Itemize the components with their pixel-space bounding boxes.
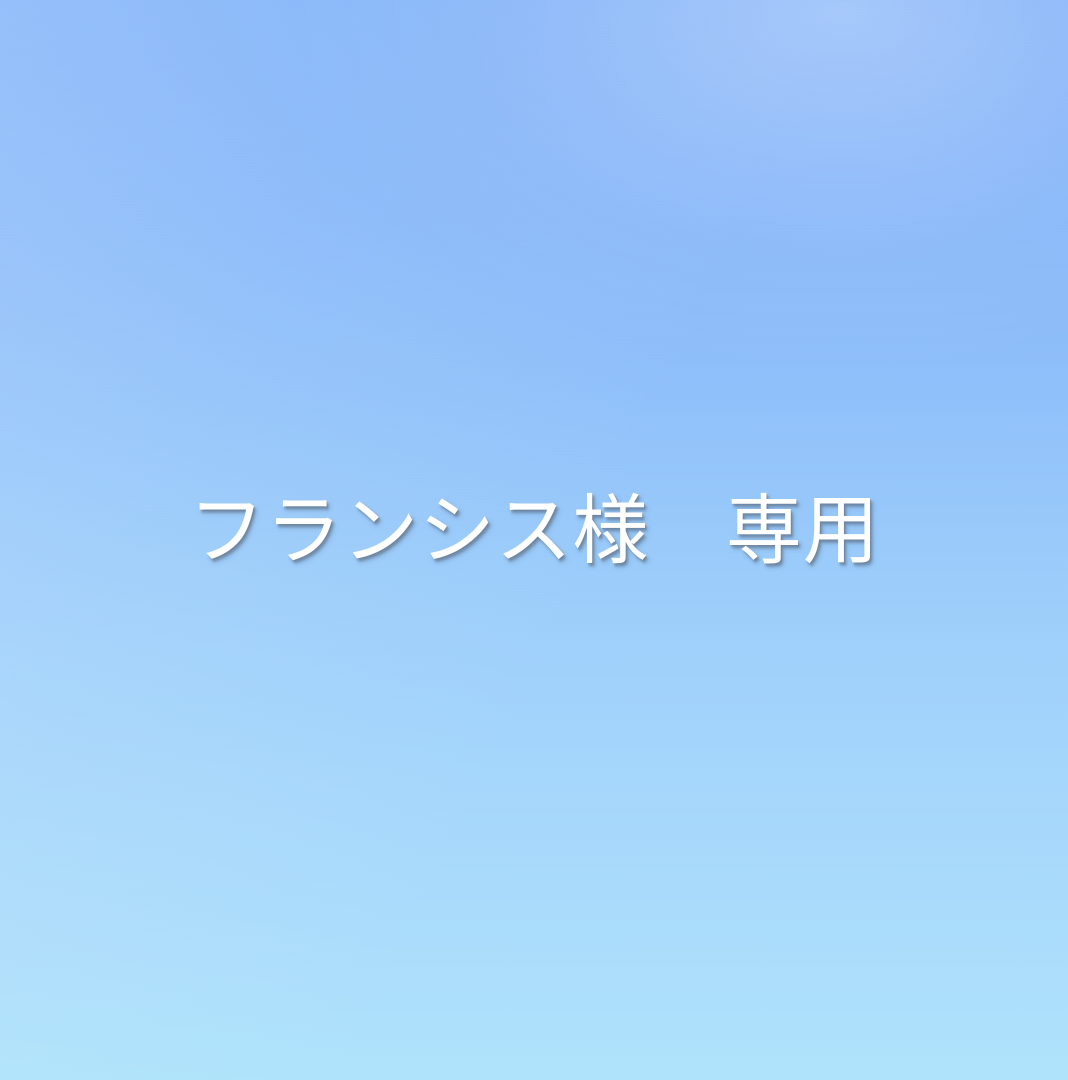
- sky-highlight-glow: [0, 0, 1068, 1080]
- caption-layer: フランシス様 専用: [0, 0, 1068, 1080]
- image-canvas: フランシス様 専用: [0, 0, 1068, 1080]
- sky-left-wash: [0, 0, 1068, 1080]
- sky-grain-texture: [0, 0, 1068, 1080]
- caption-text: フランシス様 専用: [189, 494, 880, 570]
